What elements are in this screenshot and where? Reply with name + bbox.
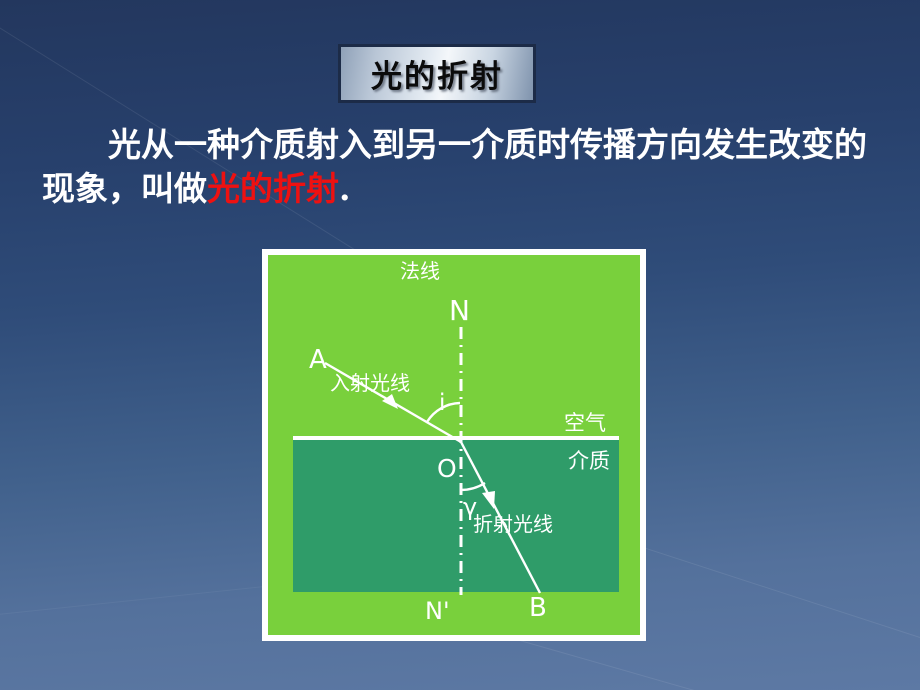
refracted-ray-arrowhead [482,491,495,509]
point-b-label: B [529,595,547,621]
normal-bottom-label: N' [425,599,450,623]
angle-of-refraction-arc [461,483,485,490]
angle-of-incidence-label: i [439,392,445,415]
medium-region-label: 介质 [568,451,610,472]
refracted-ray-label: 折射光线 [473,514,553,534]
definition-tail-text: . [339,169,351,208]
title-plaque: 光的折射 [338,44,536,103]
diagram-inner: 法线 N N' A B O i γ 入射光线 折射光线 空气 介质 [268,255,640,635]
definition-paragraph: 光从一种介质射入到另一介质时传播方向发生改变的现象，叫做光的折射. [42,123,892,211]
point-o-label: O [437,456,457,481]
air-region-label: 空气 [564,413,606,434]
definition-lead-text: 光从一种介质射入到另一介质时传播方向发生改变的现象，叫做 [42,125,867,208]
refraction-diagram: 法线 N N' A B O i γ 入射光线 折射光线 空气 介质 [262,249,646,641]
normal-line-label: 法线 [400,261,440,281]
normal-top-label: N [449,297,470,325]
page-title: 光的折射 [371,51,503,96]
slide-canvas: 光的折射 光从一种介质射入到另一介质时传播方向发生改变的现象，叫做光的折射. [0,0,920,690]
definition-highlight-term: 光的折射 [207,169,339,208]
background-streak-3 [520,640,920,690]
point-a-label: A [309,347,327,373]
incident-ray-label: 入射光线 [330,373,410,393]
